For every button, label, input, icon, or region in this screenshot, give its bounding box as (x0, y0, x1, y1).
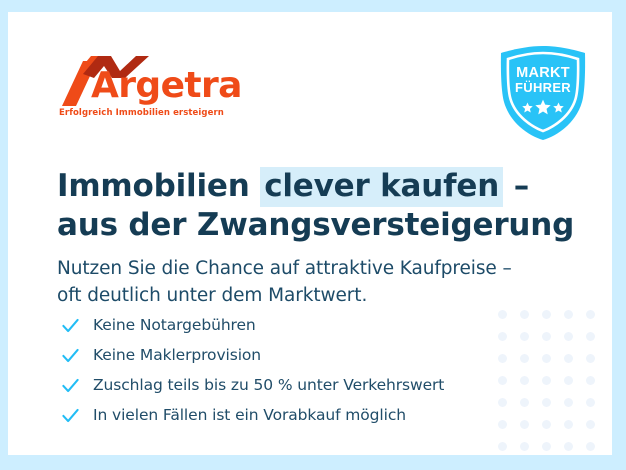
decorative-dot (542, 354, 551, 363)
decorative-dot (542, 332, 551, 341)
decorative-dot (586, 420, 595, 429)
decorative-dot (564, 354, 573, 363)
decorative-dot (564, 376, 573, 385)
subheading: Nutzen Sie die Chance auf attraktive Kau… (57, 255, 537, 311)
decorative-dot (564, 332, 573, 341)
logo-tagline: Erfolgreich Immobilien ersteigern (59, 108, 224, 118)
headline-post: – (503, 168, 529, 204)
headline-highlight: clever kaufen (260, 167, 503, 207)
decorative-dot (520, 354, 529, 363)
decorative-dot (564, 310, 573, 319)
decorative-dot (586, 310, 595, 319)
decorative-dot (586, 332, 595, 341)
decorative-dot (542, 376, 551, 385)
benefits-list: Keine Notargebühren Keine Maklerprovisio… (61, 310, 501, 430)
decorative-dot (542, 420, 551, 429)
list-item: In vielen Fällen ist ein Vorabkauf mögli… (61, 400, 501, 430)
check-icon (61, 346, 80, 365)
decorative-dot (542, 310, 551, 319)
decorative-dot (564, 442, 573, 451)
check-icon (61, 316, 80, 335)
logo-wordmark: Argetra (91, 68, 242, 104)
list-item-label: Zuschlag teils bis zu 50 % unter Verkehr… (93, 376, 444, 394)
decorative-dot (520, 442, 529, 451)
decorative-dot-grid (490, 304, 602, 455)
decorative-dot (498, 442, 507, 451)
decorative-dot (564, 398, 573, 407)
headline-line-1: Immobilien clever kaufen – (57, 167, 527, 206)
decorative-dot (542, 442, 551, 451)
subheading-line-2: oft deutlich unter dem Marktwert. (57, 282, 537, 310)
headline: Immobilien clever kaufen – aus der Zwang… (57, 167, 527, 245)
argetra-logo[interactable]: Argetra Erfolgreich Immobilien ersteiger… (57, 54, 207, 126)
list-item: Zuschlag teils bis zu 50 % unter Verkehr… (61, 370, 501, 400)
decorative-dot (520, 310, 529, 319)
decorative-dot (586, 376, 595, 385)
list-item-label: Keine Notargebühren (93, 316, 256, 334)
decorative-dot (586, 354, 595, 363)
decorative-dot (520, 376, 529, 385)
list-item-label: In vielen Fällen ist ein Vorabkauf mögli… (93, 406, 406, 424)
list-item: Keine Maklerprovision (61, 340, 501, 370)
decorative-dot (586, 398, 595, 407)
promo-banner: Argetra Erfolgreich Immobilien ersteiger… (0, 0, 626, 470)
list-item-label: Keine Maklerprovision (93, 346, 261, 364)
market-leader-badge: MARKT FÜHRER (497, 44, 589, 142)
decorative-dot (564, 420, 573, 429)
decorative-dot (542, 398, 551, 407)
decorative-dot (520, 420, 529, 429)
check-icon (61, 406, 80, 425)
banner-inner-card: Argetra Erfolgreich Immobilien ersteiger… (8, 12, 612, 455)
decorative-dot (586, 442, 595, 451)
shield-badge-icon (497, 44, 589, 142)
decorative-dot (520, 398, 529, 407)
check-icon (61, 376, 80, 395)
headline-line-2: aus der Zwangsversteigerung (57, 206, 527, 245)
decorative-dot (520, 332, 529, 341)
list-item: Keine Notargebühren (61, 310, 501, 340)
subheading-line-1: Nutzen Sie die Chance auf attraktive Kau… (57, 255, 537, 283)
headline-pre: Immobilien (57, 168, 260, 204)
